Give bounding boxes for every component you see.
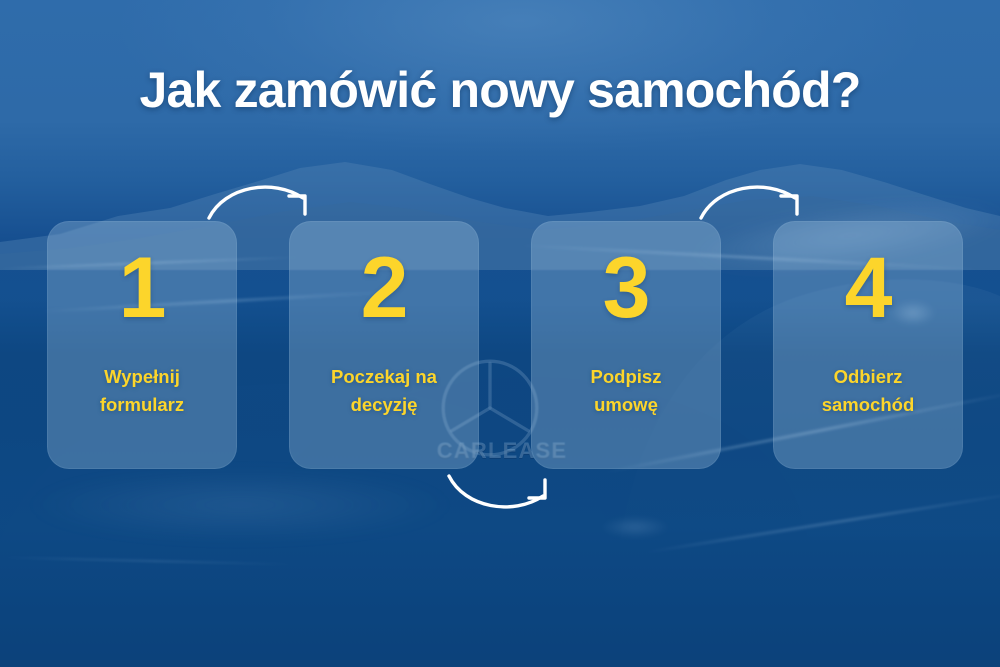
page-title: Jak zamówić nowy samochód?: [0, 63, 1000, 118]
step-label-line2: samochód: [781, 391, 955, 419]
infographic-canvas: CARLEASE Jak zamówić nowy samochód? 1 Wy…: [0, 0, 1000, 667]
step-label-line2: formularz: [55, 391, 229, 419]
step-label-line1: Poczekaj na: [297, 363, 471, 391]
step-label-line2: umowę: [539, 391, 713, 419]
step-label: Wypełnij formularz: [55, 363, 229, 419]
step-label-line1: Podpisz: [539, 363, 713, 391]
step-label: Odbierz samochód: [781, 363, 955, 419]
step-card-4[interactable]: 4 Odbierz samochód: [773, 221, 963, 469]
step-number: 3: [603, 245, 650, 331]
step-number: 4: [845, 245, 892, 331]
step-card-3[interactable]: 3 Podpisz umowę: [531, 221, 721, 469]
step-label-line1: Wypełnij: [55, 363, 229, 391]
step-label: Poczekaj na decyzję: [297, 363, 471, 419]
step-label-line1: Odbierz: [781, 363, 955, 391]
step-card-1[interactable]: 1 Wypełnij formularz: [47, 221, 237, 469]
step-card-2[interactable]: 2 Poczekaj na decyzję: [289, 221, 479, 469]
step-number: 2: [361, 245, 408, 331]
background-headlight-glint: [600, 516, 670, 538]
background-highlight-streak: [30, 470, 450, 540]
step-number: 1: [119, 245, 166, 331]
steps-row: 1 Wypełnij formularz 2 Poczekaj na decyz…: [47, 221, 963, 469]
step-label-line2: decyzję: [297, 391, 471, 419]
step-label: Podpisz umowę: [539, 363, 713, 419]
